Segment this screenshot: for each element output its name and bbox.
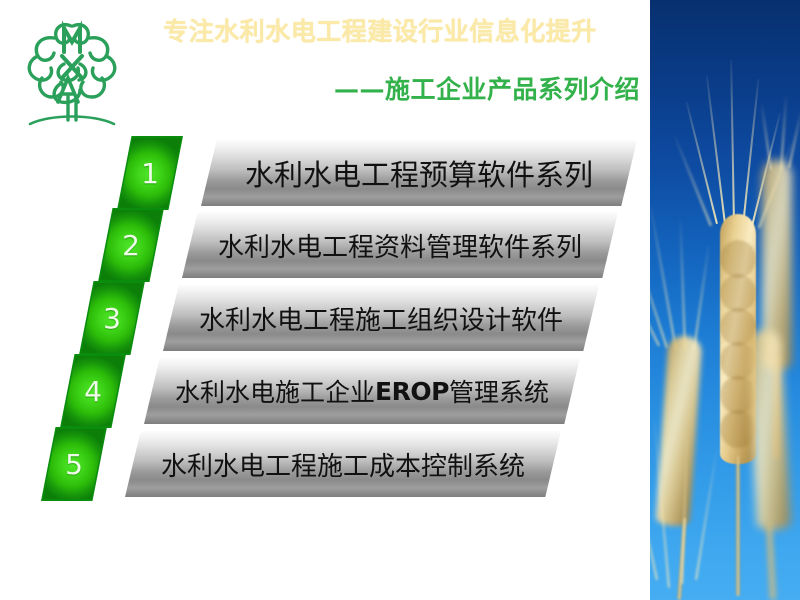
step-number: 4 <box>60 354 126 428</box>
step-label: 水利水电工程预算软件系列 <box>201 140 637 206</box>
step-number: 5 <box>41 427 107 501</box>
list-item[interactable]: 5 水利水电工程施工成本控制系统 <box>0 427 650 501</box>
page-title: 专注水利水电工程建设行业信息化提升 <box>120 16 640 48</box>
list-item[interactable]: 2 水利水电工程资料管理软件系列 <box>0 208 650 282</box>
list-item[interactable]: 1 水利水电工程预算软件系列 <box>0 136 650 210</box>
step-label-emphasis: EROP <box>375 377 449 406</box>
step-label: 水利水电工程资料管理软件系列 <box>182 212 618 278</box>
list-item[interactable]: 4 水利水电施工企业EROP管理系统 <box>0 354 650 428</box>
page-subtitle: ——施工企业产品系列介绍 <box>160 74 640 106</box>
slide-canvas: 专注水利水电工程建设行业信息化提升 ——施工企业产品系列介绍 1 水利水电工程预… <box>0 0 800 600</box>
step-number: 3 <box>79 281 145 355</box>
wheat-photo-panel <box>650 0 800 600</box>
company-tree-logo <box>16 12 128 130</box>
step-label-prefix: 水利水电施工企业 <box>175 373 375 409</box>
list-item[interactable]: 3 水利水电工程施工组织设计软件 <box>0 281 650 355</box>
step-label: 水利水电工程施工组织设计软件 <box>163 285 599 351</box>
step-label-suffix: 管理系统 <box>449 373 549 409</box>
step-number: 1 <box>117 136 183 210</box>
wheat-stalk-right-bottom <box>746 330 800 600</box>
step-number: 2 <box>98 208 164 282</box>
step-label: 水利水电工程施工成本控制系统 <box>125 431 561 497</box>
step-label: 水利水电施工企业EROP管理系统 <box>144 358 580 424</box>
wheat-loose-awns <box>650 430 720 600</box>
